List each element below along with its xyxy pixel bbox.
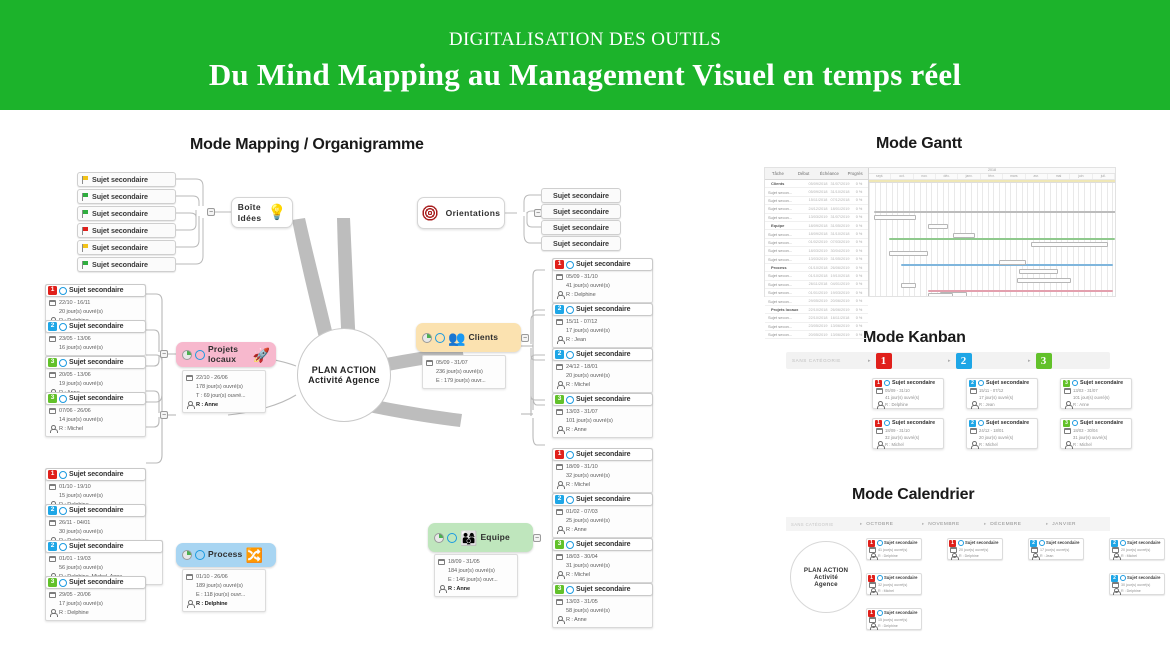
task-dates: 13/03 - 31/05 [566,599,598,605]
task-card[interactable]: 3Sujet secondaire 07/06 - 26/06 14 jour(… [45,392,146,437]
gantt-task-bar[interactable] [928,293,953,296]
gantt-cell-task: Sujet secon... [765,315,807,320]
status-ring-icon [59,287,67,295]
gantt-cell-task: Sujet secon... [765,206,807,211]
kanban-card[interactable]: 3Sujet secondaire13/03 - 31/07101 jour(s… [1060,378,1132,409]
calendar-card-owner: R : Jean [1040,554,1053,558]
gantt-col-task: Tâche [765,168,791,179]
calendar-card[interactable]: 1Sujet secondaire41 jour(s) ouvré(s)R : … [866,538,922,560]
gantt-task-row[interactable]: Sujet secon...26/11/201804/01/20190 % [765,281,868,289]
gantt-cell-due: 31/10/2018 [829,232,851,236]
task-dates: 01/02 - 07/03 [566,509,598,515]
task-label: Sujet secondaire [576,541,630,548]
priority-badge: 1 [48,470,57,479]
lightbulb-icon: 💡 [268,205,287,220]
gantt-week-tick: juin [1070,174,1092,179]
gantt-cell-progress: 0 % [851,232,867,236]
kanban-card-dates: 05/09 - 31/10 [885,388,910,393]
gantt-cell-task: Sujet secon... [765,232,807,237]
collapse-knob-clients[interactable]: − [521,334,529,342]
summary-dates: 22/10 - 26/06 [196,375,228,381]
people-icon: 👥 [448,331,465,345]
task-days: 31 jour(s) ouvré(s) [566,563,610,569]
kanban-card-label: Sujet secondaire [1080,380,1123,386]
status-ring-icon [566,586,574,594]
gantt-cell-due: 07/12/2018 [829,198,851,202]
ideas-child-label: Sujet secondaire [92,243,148,252]
mindmap-panel[interactable]: Sujet secondaire Sujet secondaire Sujet … [0,160,760,660]
gantt-task-row[interactable]: Sujet secon...05/09/201831/10/20180 % [765,188,868,196]
user-icon [970,401,977,408]
priority-badge: 2 [969,420,976,427]
calendar-card-owner: R : Delphine [1121,589,1141,593]
task-dates: 01/10 - 19/10 [59,484,91,490]
kanban-card-days: 20 jour(s) ouvré(s) [979,435,1013,440]
task-label: Sujet secondaire [576,351,630,358]
gantt-task-row[interactable]: Sujet secon...18/03/201930/04/20190 % [765,247,868,255]
priority-badge: 3 [1063,420,1070,427]
user-icon [556,571,563,578]
kanban-card-owner: R : Anne [1073,402,1089,407]
task-owner: R : Anne [566,617,587,623]
user-icon [869,553,876,560]
gantt-cell-progress: 0 % [851,215,867,219]
calendar-card-label: Sujet secondaire [1127,575,1161,580]
kanban-card[interactable]: 2Sujet secondaire15/11 - 07/1217 jour(s)… [966,378,1038,409]
status-ring-icon [877,575,883,581]
kanban-card-dates: 18/09 - 31/10 [885,428,910,433]
task-label: Sujet secondaire [576,586,630,593]
task-card[interactable]: 3Sujet secondaire 29/05 - 20/06 17 jour(… [45,576,146,621]
priority-badge: 3 [48,358,57,367]
gantt-cell-progress: 0 % [851,266,867,270]
status-ring-icon [59,471,67,479]
task-card[interactable]: 3Sujet secondaire 13/03 - 31/07 101 jour… [552,393,653,438]
calendar-icon [556,274,563,280]
gantt-cell-progress: 0 % [851,316,867,320]
gantt-task-row[interactable]: Sujet secon...13/03/201931/07/20190 % [765,214,868,222]
chevron-right-icon: ▸ [860,521,862,527]
task-dates: 05/09 - 31/10 [566,274,598,280]
gantt-task-row[interactable]: Sujet secon...13/03/201931/05/20190 % [765,256,868,264]
status-ring-icon [59,359,67,367]
ideas-child-0[interactable]: Sujet secondaire [77,172,176,187]
calendar-month-header-0[interactable]: ▸OCTOBRE [860,521,922,527]
calendar-icon [970,388,977,394]
gantt-task-row[interactable]: Sujet secon...01/02/201907/03/20190 % [765,239,868,247]
user-icon [186,401,193,408]
gantt-cell-task: Sujet secon... [765,273,807,278]
priority-badge: 2 [48,322,57,331]
calendar-card[interactable]: 2Sujet secondaire17 jour(s) ouvré(s)R : … [1028,538,1084,560]
status-ring-icon [195,550,205,560]
gantt-cell-due: 13/06/2019 [829,333,851,337]
calendar-icon [1064,428,1071,434]
node-boite-idees[interactable]: Boîte Idées 💡 [231,197,293,228]
summary-days: 236 jour(s) ouvré(s) [436,369,483,375]
priority-badge: 3 [48,578,57,587]
gantt-cell-due: 18/01/2019 [829,207,851,211]
panel-title-kanban: Mode Kanban [863,329,966,347]
gantt-week-tick: nov. [914,174,936,179]
ideas-child-label: Sujet secondaire [92,209,148,218]
calendar-card-days: 15 jour(s) ouvré(s) [878,618,907,622]
gantt-task-bar[interactable] [1017,278,1071,283]
summary-days: 189 jour(s) ouvré(s) [196,583,243,589]
calendar-card[interactable]: 2Sujet secondaire30 jour(s) ouvré(s)R : … [1109,573,1165,595]
calendar-icon [186,375,193,381]
calendar-card[interactable]: 2Sujet secondaire20 jour(s) ouvré(s)R : … [1109,538,1165,560]
task-days: 101 jour(s) ouvré(s) [566,418,613,424]
gantt-cell-start: 05/09/2018 [807,182,829,186]
priority-badge: 1 [868,540,875,547]
orientations-child-2[interactable]: Sujet secondaire [541,220,621,235]
gantt-cell-task: Sujet secon... [765,257,807,262]
gantt-task-bar[interactable] [889,251,928,256]
summary-effort: T : 69 jour(s) ouvré... [196,393,246,399]
gantt-group-row[interactable]: Equipe18/09/201831/05/20190 % [765,222,868,230]
calendar-month-header-3[interactable]: ▸JANVIER [1046,521,1108,527]
calendar-icon [556,364,563,370]
calendar-month-label: NOVEMBRE [928,522,959,527]
task-owner: R : Michel [59,426,83,432]
task-label: Sujet secondaire [69,507,123,514]
gantt-bars-layer [869,183,1115,296]
task-days: 16 jour(s) ouvré(s) [59,345,103,351]
task-label: Sujet secondaire [69,471,123,478]
branch-node-process[interactable]: Process 🔀 [176,543,276,567]
task-owner: R : Michel [566,482,590,488]
gantt-cell-due: 31/07/2019 [829,182,851,186]
task-card[interactable]: 2Sujet secondaire 23/05 - 13/06 16 jour(… [45,320,146,356]
branch-summary-projets-locaux: 22/10 - 26/06 178 jour(s) ouvré(s) T : 6… [182,370,266,413]
task-card[interactable]: 2Sujet secondaire 15/11 - 07/12 17 jour(… [552,303,653,348]
ideas-child-5[interactable]: Sujet secondaire [77,257,176,272]
kanban-badge: 1 [876,353,892,369]
chevron-right-icon: ▸ [984,521,986,527]
calendar-root-line1: PLAN ACTION [804,567,848,574]
branch-label: Clients [468,333,498,343]
calendar-month-label: OCTOBRE [866,522,893,527]
task-label: Sujet secondaire [576,306,630,313]
gantt-task-bar[interactable] [1031,242,1107,247]
user-icon [556,481,563,488]
calendar-icon [49,408,56,414]
gantt-cell-start: 18/09/2018 [807,224,829,228]
header-title: Du Mind Mapping au Management Visuel en … [0,57,1170,93]
task-days: 14 jour(s) ouvré(s) [59,417,103,423]
kanban-card-label: Sujet secondaire [892,420,935,426]
chevron-right-icon: ▸ [1046,521,1048,527]
task-dates: 01/01 - 19/03 [59,556,91,562]
kanban-card[interactable]: 2Sujet secondaire24/12 - 18/0120 jour(s)… [966,418,1038,449]
kanban-card-days: 41 jour(s) ouvré(s) [885,395,919,400]
summary-days: 184 jour(s) ouvré(s) [448,568,495,574]
gantt-cell-task: Sujet secon... [765,299,807,304]
gantt-week-tick: avr. [1026,174,1048,179]
gantt-cell-task: Sujet secon... [765,215,807,220]
calendar-card-days: 32 jour(s) ouvré(s) [878,583,907,587]
status-ring-icon [59,323,67,331]
gantt-cell-due: 13/06/2019 [829,324,851,328]
calendar-icon [876,428,883,434]
chevron-right-icon: ▸ [922,521,924,527]
calendar-icon [970,428,977,434]
task-dates: 07/06 - 26/06 [59,408,91,414]
calendar-month-label: DÉCEMBRE [990,522,1021,527]
gantt-task-bar[interactable] [953,233,975,238]
calendar-card-owner: R : Michel [878,589,894,593]
summary-dates: 05/09 - 31/07 [436,360,468,366]
task-dates: 29/05 - 20/06 [59,592,91,598]
task-label: Sujet secondaire [69,543,123,550]
header-kicker: DIGITALISATION DES OUTILS [0,29,1170,51]
calendar-icon [876,388,883,394]
priority-badge: 2 [1111,540,1118,547]
gantt-week-tick: déc. [936,174,958,179]
task-dates: 23/05 - 13/06 [59,336,91,342]
gantt-task-row[interactable]: Sujet secon...29/05/201920/06/20190 % [765,297,868,305]
ideas-child-2[interactable]: Sujet secondaire [77,206,176,221]
gantt-cell-progress: 0 % [851,224,867,228]
status-ring-icon [566,306,574,314]
gantt-task-bar[interactable] [1019,269,1058,274]
gantt-screenshot[interactable]: Tâche Début Échéance Progrès Clients05/0… [764,167,1116,297]
orientations-child-3[interactable]: Sujet secondaire [541,236,621,251]
kanban-badge: 2 [956,353,972,369]
branch-node-equipe[interactable]: 👨‍👩‍👦 Equipe [428,523,533,552]
gantt-cell-start: 01/10/2018 [807,274,829,278]
task-days: 20 jour(s) ouvré(s) [59,309,103,315]
kanban-card-label: Sujet secondaire [986,420,1029,426]
panel-title-calendar: Mode Calendrier [852,486,974,504]
kanban-column-header-1[interactable]: ▸ 1 [868,353,948,369]
gantt-cell-progress: 0 % [851,308,867,312]
calendar-card-label: Sujet secondaire [1127,540,1161,545]
gantt-cell-start: 20/05/2019 [807,333,829,337]
priority-badge: 3 [1063,380,1070,387]
gantt-cell-task: Sujet secon... [765,248,807,253]
mindmap-root-node[interactable]: PLAN ACTION Activité Agence [297,328,391,422]
gantt-task-row[interactable]: Sujet secon...15/11/201807/12/20180 % [765,197,868,205]
task-dates: 15/11 - 07/12 [566,319,597,325]
calendar-screenshot[interactable]: SANS CATÉGORIE ▸OCTOBRE ▸NOVEMBRE ▸DÉCEM… [786,517,1110,637]
gantt-task-row[interactable]: Sujet secon...18/09/201831/10/20180 % [765,230,868,238]
branch-summary-process: 01/10 - 26/06 189 jour(s) ouvré(s) E : 1… [182,569,266,612]
gantt-cell-due: 19/03/2019 [829,291,851,295]
user-icon [438,585,445,592]
ideas-child-1[interactable]: Sujet secondaire [77,189,176,204]
gantt-group-row[interactable]: Projets locaux22/10/201826/06/20190 % [765,306,868,314]
calendar-root-line3: Agence [814,581,838,588]
gantt-task-row[interactable]: Sujet secon...22/10/201816/11/20180 % [765,314,868,322]
gantt-cell-start: 01/02/2019 [807,240,829,244]
task-label: Sujet secondaire [576,496,630,503]
branch-node-projets-locaux[interactable]: Projets locaux 🚀 [176,342,276,367]
status-ring-icon [1120,540,1126,546]
priority-badge: 2 [969,380,976,387]
gantt-cell-due: 20/06/2019 [829,299,851,303]
gantt-cell-progress: 0 % [851,274,867,278]
gantt-task-bar[interactable] [928,224,948,229]
child-label: Sujet secondaire [553,191,609,200]
calendar-month-header-1[interactable]: ▸NOVEMBRE [922,521,984,527]
task-owner: R : Michel [566,572,590,578]
calendar-card-days: 17 jour(s) ouvré(s) [1040,548,1069,552]
ideas-child-4[interactable]: Sujet secondaire [77,240,176,255]
gantt-task-row[interactable]: Sujet secon...01/01/201919/03/20190 % [765,289,868,297]
gantt-week-tick: sept. [869,174,891,179]
gantt-task-row[interactable]: Sujet secon...01/10/201819/10/20180 % [765,272,868,280]
gantt-chart-area[interactable]: 2018 sept.oct.nov.déc.janv.févr.marsavr.… [869,168,1115,296]
task-card[interactable]: 2Sujet secondaire 24/12 - 18/01 20 jour(… [552,348,653,393]
gantt-cell-due: 16/11/2018 [829,316,851,320]
kanban-uncategorised-label: SANS CATÉGORIE [786,358,868,363]
calendar-card[interactable]: 1Sujet secondaire20 jour(s) ouvré(s)R : … [947,538,1003,560]
priority-badge: 1 [868,575,875,582]
gantt-task-row[interactable]: Sujet secon...23/05/201913/06/20190 % [765,323,868,331]
gantt-task-bar[interactable] [999,260,1026,265]
gantt-cell-due: 31/07/2019 [829,215,851,219]
progress-gauge-icon [434,533,444,543]
gantt-cell-due: 26/06/2019 [829,266,851,270]
task-card[interactable]: 1Sujet secondaire 05/09 - 31/10 41 jour(… [552,258,653,303]
gantt-cell-progress: 0 % [851,240,867,244]
task-dates: 26/11 - 04/01 [59,520,90,526]
calendar-card-label: Sujet secondaire [884,540,918,545]
child-label: Sujet secondaire [553,239,609,248]
status-ring-icon [958,540,964,546]
gantt-col-due: Échéance [817,168,843,179]
user-icon [876,401,883,408]
kanban-card-days: 17 jour(s) ouvré(s) [979,395,1013,400]
task-dates: 20/05 - 13/06 [59,372,91,378]
kanban-column-header-3[interactable]: ▸ 3 [1028,353,1108,369]
gantt-table-header: Tâche Début Échéance Progrès [765,168,868,180]
orientations-child-1[interactable]: Sujet secondaire [541,204,621,219]
summary-effort: E : 146 jour(s) ouvr... [448,577,498,583]
gantt-task-row[interactable]: Sujet secon...24/12/201818/01/20190 % [765,205,868,213]
kanban-card[interactable]: 1Sujet secondaire18/09 - 31/1032 jour(s)… [872,418,944,449]
summary-owner: R : Anne [448,586,470,592]
task-days: 56 jour(s) ouvré(s) [59,565,103,571]
user-icon [49,425,56,432]
panel-title-gantt: Mode Gantt [876,135,962,153]
status-ring-icon [59,543,67,551]
kanban-card[interactable]: 3Sujet secondaire18/03 - 30/0431 jour(s)… [1060,418,1132,449]
gantt-group-row[interactable]: Clients05/09/201831/07/20190 % [765,180,868,188]
child-label: Sujet secondaire [553,207,609,216]
node-orientations[interactable]: Orientations [417,197,505,229]
ideas-child-3[interactable]: Sujet secondaire [77,223,176,238]
gantt-task-bar[interactable] [901,283,916,288]
branch-label: Process [208,550,242,560]
kanban-header: SANS CATÉGORIE ▸ 1 ▸ 2 ▸ 3 [786,352,1110,369]
priority-badge: 1 [949,540,956,547]
gantt-cell-task: Process [765,265,807,270]
calendar-card-owner: R : Delphine [878,624,898,628]
status-ring-icon [884,420,890,426]
ideas-child-label: Sujet secondaire [92,260,148,269]
calendar-card[interactable]: 1Sujet secondaire15 jour(s) ouvré(s)R : … [866,608,922,630]
slide-canvas: DIGITALISATION DES OUTILS Du Mind Mappin… [0,0,1170,663]
task-card[interactable]: 2Sujet secondaire 01/02 - 07/03 25 jour(… [552,493,653,538]
task-card[interactable]: 1Sujet secondaire 18/09 - 31/10 32 jour(… [552,448,653,493]
gantt-cell-task: Sujet secon... [765,332,807,337]
status-ring-icon [566,451,574,459]
calendar-month-header-2[interactable]: ▸DÉCEMBRE [984,521,1046,527]
priority-badge: 1 [875,420,882,427]
gantt-summary-bar [889,238,1115,240]
task-dates: 22/10 - 16/11 [59,300,90,306]
kanban-column-header-2[interactable]: ▸ 2 [948,353,1028,369]
branch-node-clients[interactable]: 👥 Clients [416,323,521,352]
calendar-icon [556,319,563,325]
chevron-right-icon: ▸ [948,358,951,364]
workflow-icon: 🔀 [245,548,262,562]
calendar-header: SANS CATÉGORIE ▸OCTOBRE ▸NOVEMBRE ▸DÉCEM… [786,517,1110,531]
priority-badge: 3 [555,395,564,404]
priority-badge: 1 [555,450,564,459]
gantt-cell-start: 01/10/2018 [807,266,829,270]
gantt-cell-task: Sujet secon... [765,240,807,245]
gantt-task-row[interactable]: Sujet secon...20/05/201913/06/20190 % [765,331,868,339]
gantt-task-bar[interactable] [874,215,916,220]
summary-owner: R : Delphine [196,601,227,607]
calendar-icon [186,574,193,580]
priority-badge: 1 [868,610,875,617]
calendar-root-node[interactable]: PLAN ACTION Activité Agence [790,541,862,613]
branch-summary-equipe: 18/09 - 31/05 184 jour(s) ouvré(s) E : 1… [434,554,518,597]
gantt-task-table[interactable]: Tâche Début Échéance Progrès Clients05/0… [765,168,869,296]
priority-badge: 3 [555,540,564,549]
kanban-screenshot[interactable]: SANS CATÉGORIE ▸ 1 ▸ 2 ▸ 3 1Sujet second… [786,352,1110,470]
orientations-child-0[interactable]: Sujet secondaire [541,188,621,203]
calendar-uncategorised-label: SANS CATÉGORIE [786,522,860,527]
task-card[interactable]: 3Sujet secondaire 18/03 - 30/04 31 jour(… [552,538,653,583]
status-ring-icon [1120,575,1126,581]
gantt-group-row[interactable]: Process01/10/201826/06/20190 % [765,264,868,272]
calendar-icon [49,556,56,562]
status-ring-icon [877,610,883,616]
flag-icon [81,261,89,269]
collapse-knob-process[interactable]: − [160,411,168,419]
priority-badge: 1 [875,380,882,387]
root-label-line2: Activité Agence [308,375,380,385]
status-ring-icon [877,540,883,546]
status-ring-icon [884,380,890,386]
collapse-knob-projets-locaux[interactable]: − [160,350,168,358]
task-card[interactable]: 3Sujet secondaire 13/03 - 31/05 58 jour(… [552,583,653,628]
flag-icon [81,227,89,235]
gantt-cell-progress: 0 % [851,324,867,328]
kanban-card[interactable]: 1Sujet secondaire05/09 - 31/1041 jour(s)… [872,378,944,409]
task-dates: 18/09 - 31/10 [566,464,598,470]
calendar-icon [1064,388,1071,394]
gantt-cell-task: Sujet secon... [765,198,807,203]
branch-label: Projets locaux [208,345,250,365]
gantt-summary-bar [874,211,1115,213]
collapse-knob-equipe[interactable]: − [533,534,541,542]
ideas-child-label: Sujet secondaire [92,175,148,184]
calendar-card[interactable]: 1Sujet secondaire32 jour(s) ouvré(s)R : … [866,573,922,595]
calendar-card-days: 20 jour(s) ouvré(s) [959,548,988,552]
collapse-knob-ideas[interactable]: − [207,208,215,216]
task-dates: 18/03 - 30/04 [566,554,598,560]
summary-days: 178 jour(s) ouvré(s) [196,384,243,390]
user-icon [186,600,193,607]
gantt-cell-progress: 0 % [851,257,867,261]
